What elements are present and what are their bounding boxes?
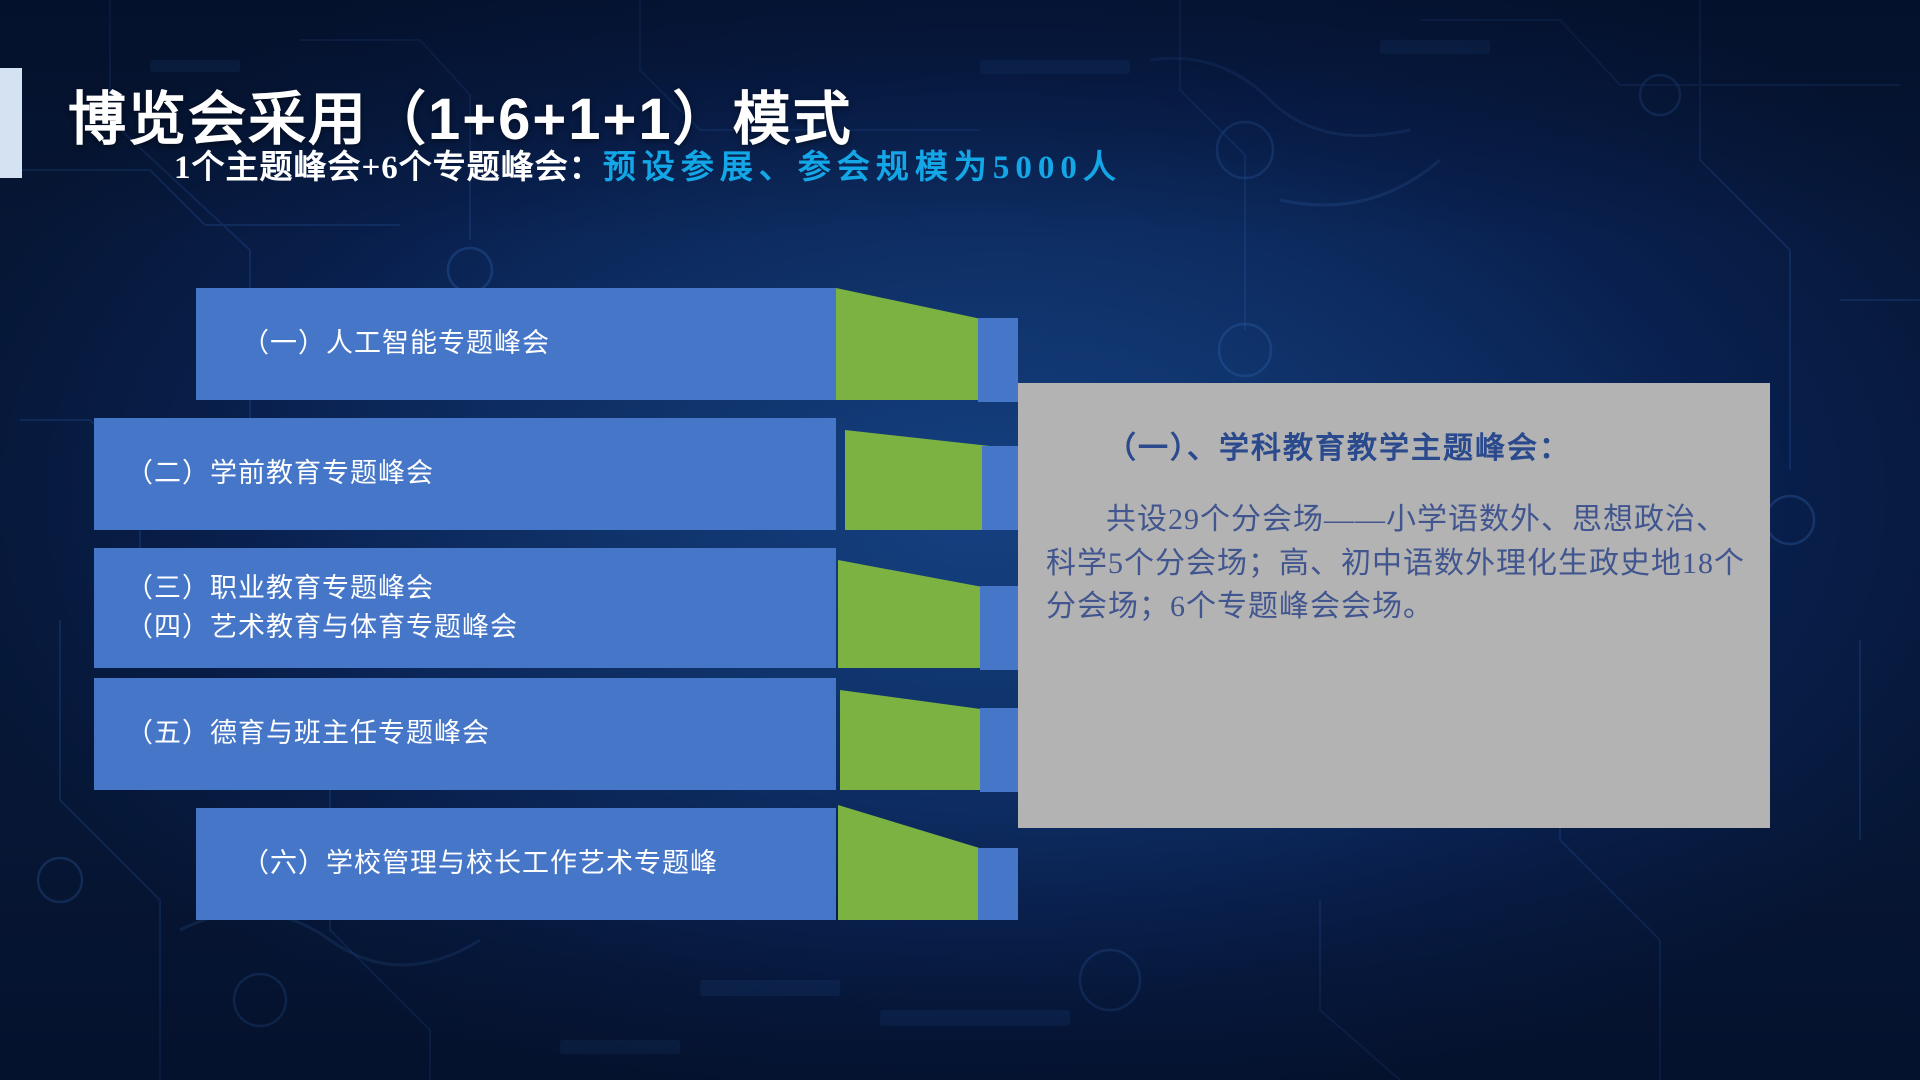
info-panel-paragraph: 共设29个分会场——小学语数外、思想政治、科学5个分会场；高、初中语数外理化生政… bbox=[1046, 498, 1746, 629]
left-accent-bar bbox=[0, 68, 22, 178]
summit-bar-1-line-1: （一）人工智能专题峰会 bbox=[196, 324, 836, 363]
slide-canvas: 博览会采用（1+6+1+1）模式 1个主题峰会+6个专题峰会：预设参展、参会规模… bbox=[0, 0, 1920, 1080]
funnel-segment-2 bbox=[845, 430, 990, 530]
summit-bar-4[interactable]: （五）德育与班主任专题峰会 bbox=[94, 678, 836, 790]
connector-stub-2 bbox=[982, 446, 1022, 530]
summit-bar-4-line-1: （五）德育与班主任专题峰会 bbox=[94, 714, 836, 753]
summit-bar-5-line-1: （六）学校管理与校长工作艺术专题峰 bbox=[196, 844, 836, 883]
connector-stub-1 bbox=[978, 318, 1018, 402]
funnel-segment-1 bbox=[836, 288, 986, 400]
summit-bar-3[interactable]: （三）职业教育专题峰会 （四）艺术教育与体育专题峰会 bbox=[94, 548, 836, 668]
summit-bar-5[interactable]: （六）学校管理与校长工作艺术专题峰 bbox=[196, 808, 836, 920]
subtitle-highlight-text: 预设参展、参会规模为5000人 bbox=[603, 150, 1122, 186]
summit-bar-2[interactable]: （二）学前教育专题峰会 bbox=[94, 418, 836, 530]
subtitle-plain-text: 1个主题峰会+6个专题峰会： bbox=[174, 150, 603, 186]
connector-stub-4 bbox=[980, 708, 1020, 792]
connector-stub-3 bbox=[980, 586, 1020, 670]
summit-bar-1[interactable]: （一）人工智能专题峰会 bbox=[196, 288, 836, 400]
funnel-segment-5 bbox=[838, 805, 986, 920]
summit-bar-3-line-2: （四）艺术教育与体育专题峰会 bbox=[94, 608, 836, 647]
funnel-segment-3 bbox=[838, 560, 988, 668]
info-panel-heading: （一）、学科教育教学主题峰会： bbox=[1106, 423, 1571, 467]
summit-bar-2-line-1: （二）学前教育专题峰会 bbox=[94, 454, 836, 493]
info-panel-body: 共设29个分会场——小学语数外、思想政治、科学5个分会场；高、初中语数外理化生政… bbox=[1046, 498, 1746, 629]
funnel-segment-4 bbox=[840, 690, 988, 790]
summit-bar-3-line-1: （三）职业教育专题峰会 bbox=[94, 569, 836, 608]
info-panel: （一）、学科教育教学主题峰会： 共设29个分会场——小学语数外、思想政治、科学5… bbox=[1018, 383, 1770, 828]
connector-stub-5 bbox=[978, 848, 1018, 920]
page-subtitle: 1个主题峰会+6个专题峰会：预设参展、参会规模为5000人 bbox=[174, 140, 1122, 188]
